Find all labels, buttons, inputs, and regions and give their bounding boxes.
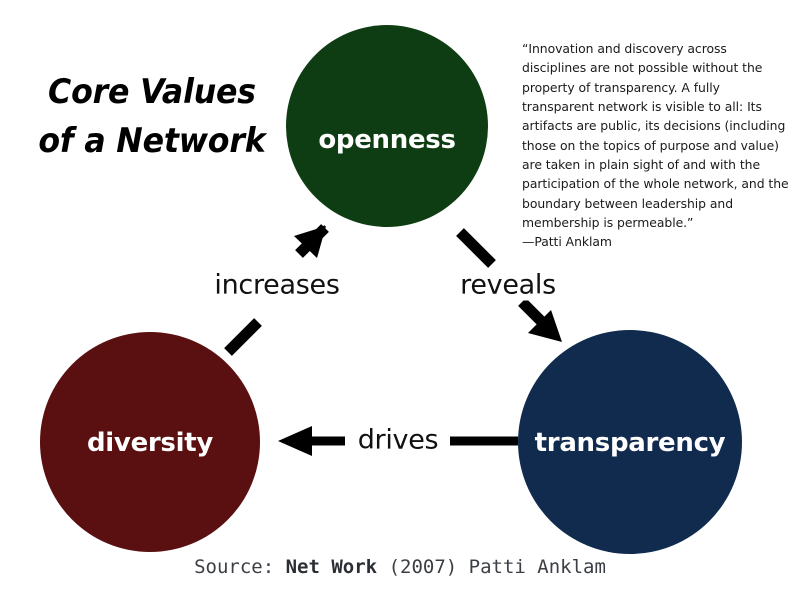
quote-attribution: —Patti Anklam (522, 232, 790, 251)
node-label-openness: openness (318, 125, 455, 155)
title-line-1: Core Values (27, 68, 276, 117)
source-work-title: Net Work (286, 556, 378, 578)
quote-text: “Innovation and discovery across discipl… (522, 41, 789, 230)
edge-label-increases: increases (209, 270, 344, 301)
source-citation: Source: Net Work (2007) Patti Anklam (0, 556, 800, 578)
edge-label-reveals: reveals (455, 270, 561, 301)
page-title: Core Values of a Network (27, 68, 276, 167)
source-prefix: Source: (194, 556, 286, 578)
diagram-canvas: Core Values of a Network “Innovation and… (0, 0, 800, 599)
node-label-diversity: diversity (87, 428, 213, 458)
node-label-transparency: transparency (535, 428, 726, 458)
edge-label-drives: drives (353, 425, 444, 456)
source-suffix: (2007) Patti Anklam (377, 556, 606, 578)
title-line-2: of a Network (27, 117, 276, 166)
quote-block: “Innovation and discovery across discipl… (522, 39, 790, 252)
